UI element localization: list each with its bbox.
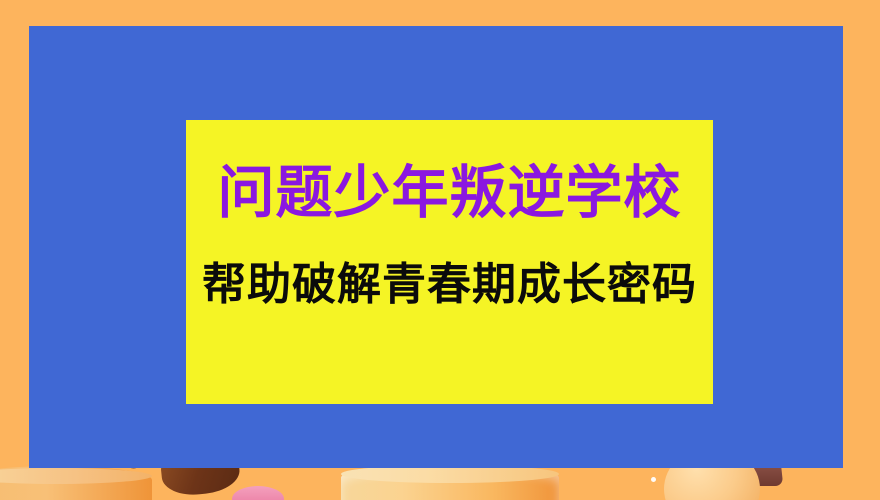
sparkle-dot-icon bbox=[651, 477, 656, 482]
podium-cylinder-left-top-icon bbox=[0, 468, 152, 484]
podium-cylinder-icon bbox=[341, 464, 559, 500]
yellow-text-card: 问题少年叛逆学校 帮助破解青春期成长密码 bbox=[186, 120, 713, 404]
blue-board: 问题少年叛逆学校 帮助破解青春期成长密码 bbox=[29, 26, 843, 468]
page-title: 问题少年叛逆学校 bbox=[218, 164, 682, 224]
pink-blob-icon bbox=[232, 486, 284, 500]
podium-cylinder-left-icon bbox=[0, 466, 152, 500]
page-subtitle: 帮助破解青春期成长密码 bbox=[202, 262, 697, 308]
poster-canvas: 问题少年叛逆学校 帮助破解青春期成长密码 bbox=[0, 0, 880, 500]
